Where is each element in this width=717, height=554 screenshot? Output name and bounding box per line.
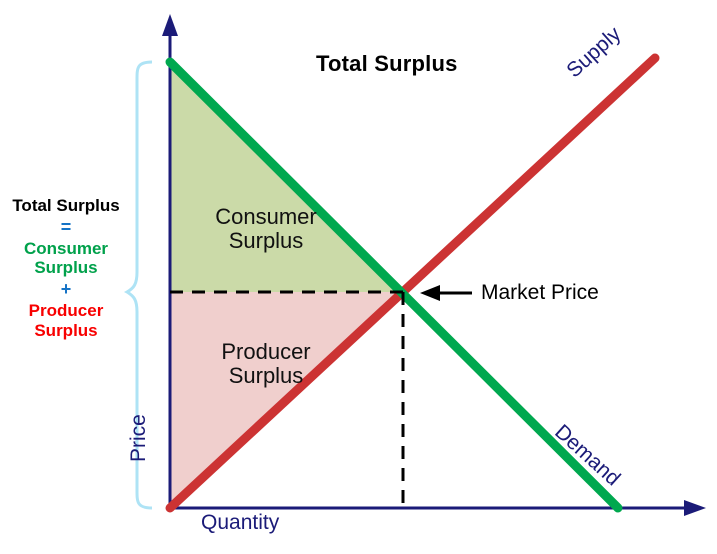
x-axis-title: Quantity — [201, 512, 279, 535]
consumer-surplus-label: Consumer Surplus — [191, 205, 341, 253]
x-axis-arrowhead — [684, 500, 706, 516]
producer-surplus-label: Producer Surplus — [191, 340, 341, 388]
page-title: Total Surplus — [316, 52, 458, 76]
legend-equals-sign: = — [0, 217, 132, 238]
y-axis-title: Price — [128, 414, 151, 462]
total-surplus-legend: Total Surplus = Consumer Surplus + Produ… — [0, 196, 132, 340]
surplus-diagram: Total Surplus Consumer Surplus Producer … — [0, 0, 717, 554]
market-price-arrowhead — [420, 285, 440, 301]
market-price-label: Market Price — [481, 282, 599, 305]
legend-consumer-surplus: Consumer Surplus — [0, 239, 132, 278]
legend-total-surplus: Total Surplus — [0, 196, 132, 216]
legend-producer-surplus: Producer Surplus — [0, 301, 132, 340]
legend-plus-sign: + — [0, 279, 132, 300]
y-axis-arrowhead — [162, 14, 178, 36]
